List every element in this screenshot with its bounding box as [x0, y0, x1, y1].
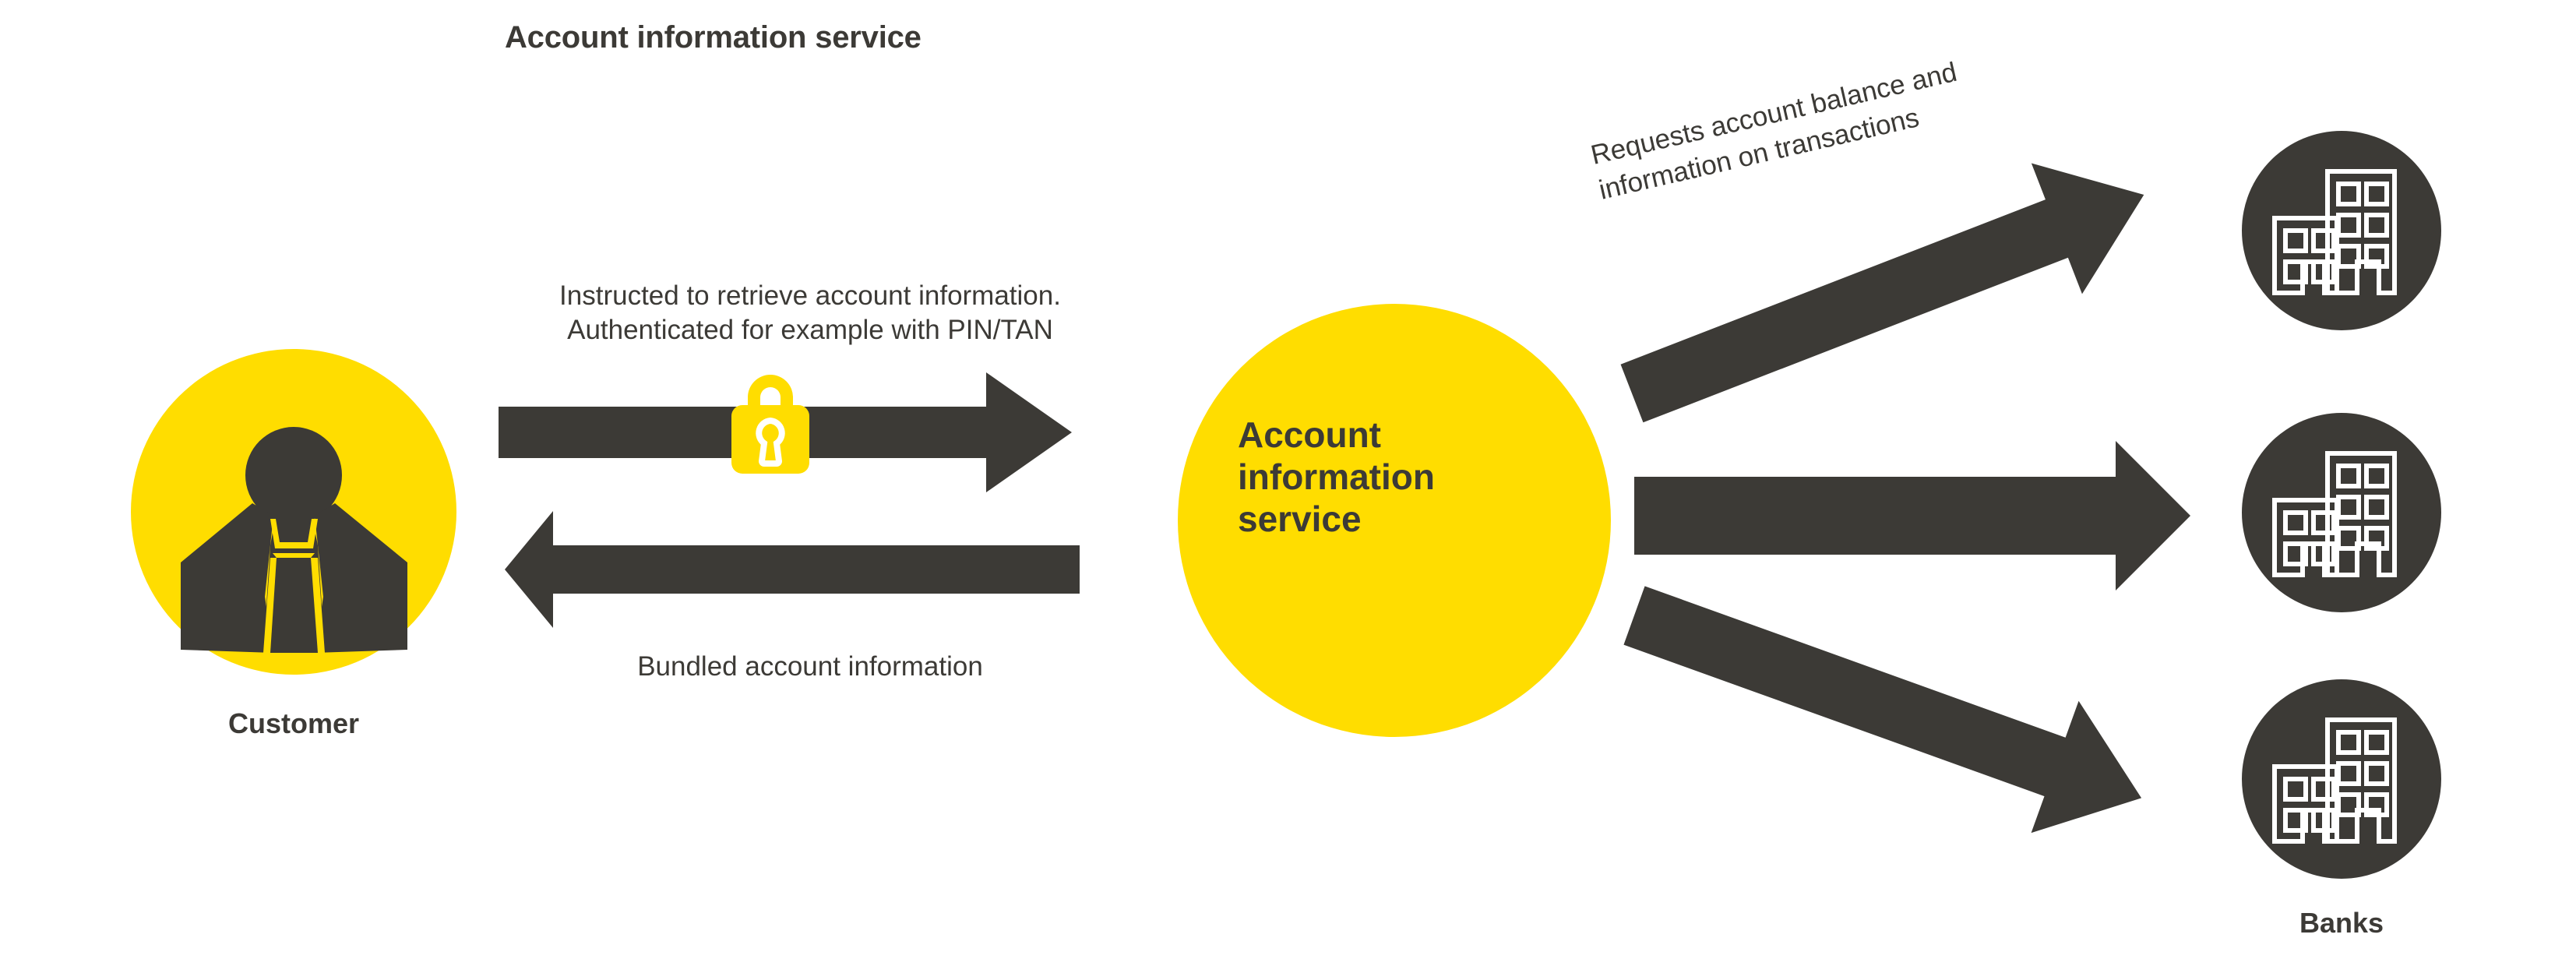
customer-node[interactable] — [131, 349, 456, 675]
banks-label: Banks — [2242, 907, 2441, 940]
bank-node-3[interactable] — [2242, 679, 2441, 879]
bank-node-1[interactable] — [2242, 131, 2441, 330]
bank-building-icon — [2242, 413, 2441, 612]
diagram-canvas: Account information service — [0, 0, 2576, 966]
bank-node-2[interactable] — [2242, 413, 2441, 612]
service-node-label: Account information service — [1238, 414, 1565, 540]
flow-label-instructed: Instructed to retrieve account informati… — [460, 279, 1161, 347]
arrow-service-to-bank-3 — [1611, 549, 2165, 864]
lock-icon — [724, 366, 816, 474]
arrow-service-to-bank-2 — [1634, 441, 2190, 591]
service-label-line-3: service — [1238, 499, 1565, 541]
service-label-line-2: information — [1238, 457, 1565, 499]
bank-building-icon — [2242, 679, 2441, 879]
service-label-line-1: Account — [1238, 414, 1565, 457]
bank-building-icon — [2242, 131, 2441, 330]
person-icon — [131, 349, 456, 675]
flow-label-bundled: Bundled account information — [499, 651, 1122, 682]
customer-label: Customer — [131, 707, 456, 740]
arrow-service-to-customer — [505, 511, 1080, 628]
